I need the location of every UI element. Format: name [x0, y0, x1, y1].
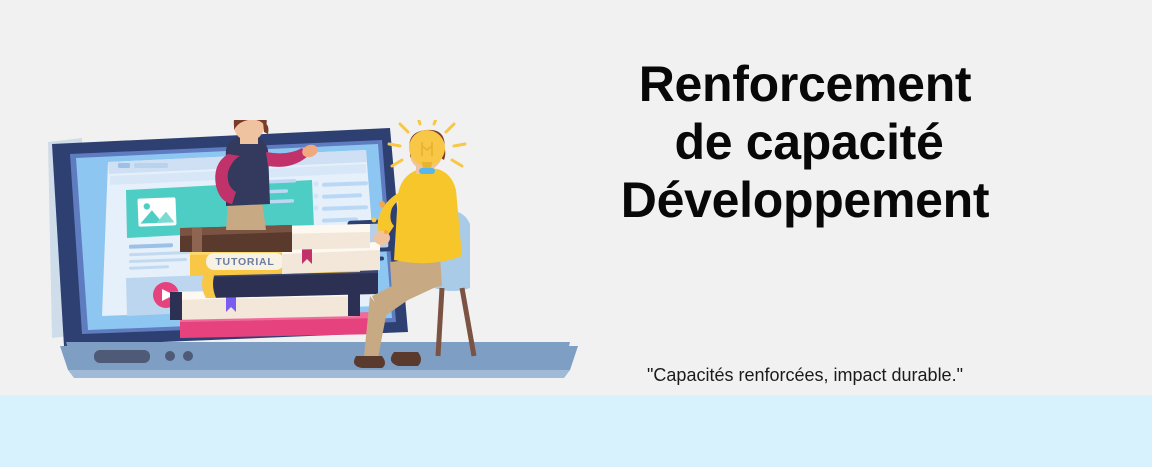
heading-line-2: de capacité [555, 113, 1055, 171]
heading-line-3: Développement [555, 171, 1055, 229]
laptop-speaker [94, 350, 150, 363]
heading-line-1: Renforcement [555, 55, 1055, 113]
bottom-color-band [0, 395, 1152, 467]
banner-root: TUTORIAL [0, 0, 1152, 467]
tutorial-label-text: TUTORIAL [215, 256, 274, 268]
elearning-illustration: TUTORIAL [30, 120, 590, 390]
heading-block: Renforcement de capacité Développement [555, 55, 1055, 229]
tagline-text: "Capacités renforcées, impact durable." [555, 364, 1055, 386]
